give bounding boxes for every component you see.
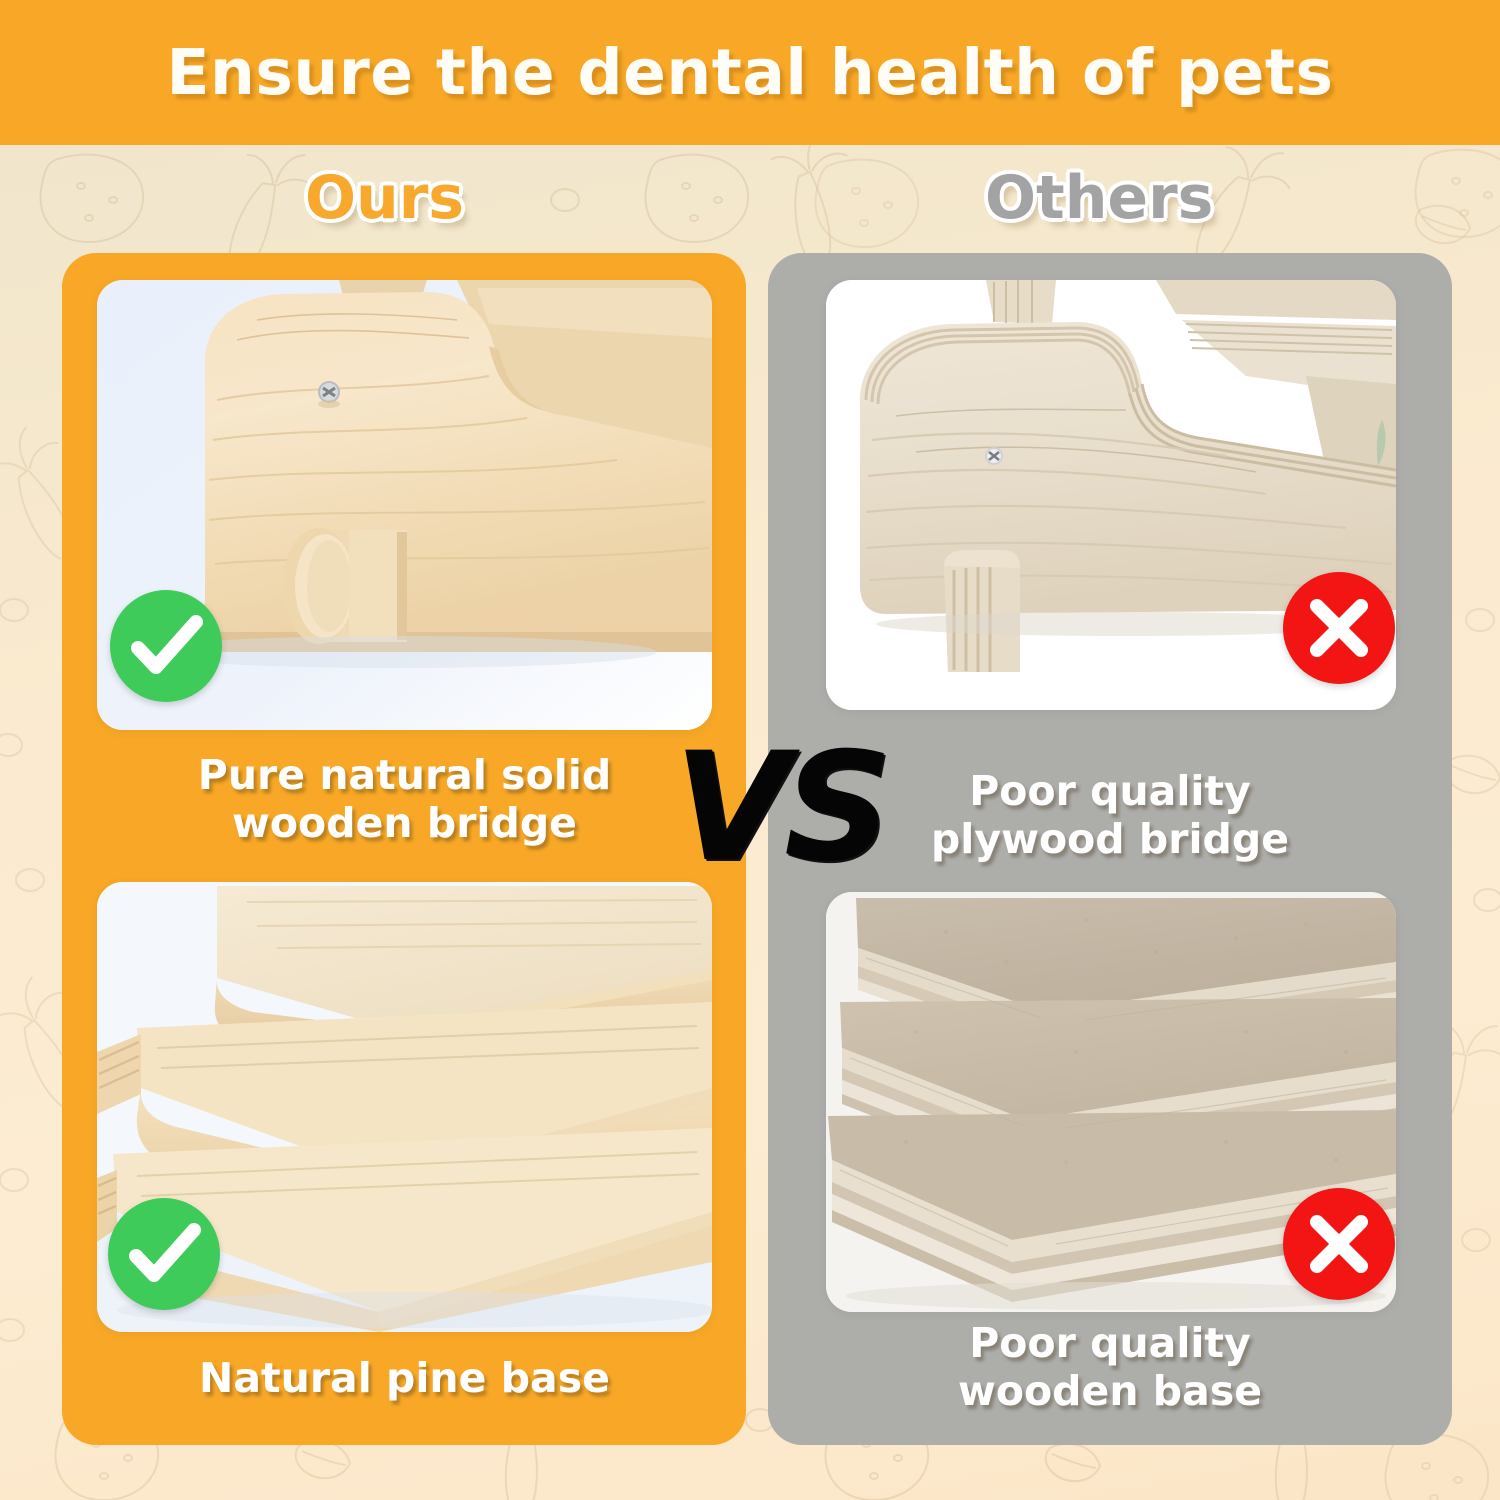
versus-badge: VS	[665, 718, 895, 898]
cross-badge-icon	[1283, 1188, 1395, 1300]
column-heading-others: Others	[985, 163, 1213, 233]
header-banner: Ensure the dental health of pets	[0, 0, 1500, 145]
page-title: Ensure the dental health of pets	[166, 36, 1333, 109]
caption-ours-base: Natural pine base	[97, 1355, 712, 1403]
check-badge-icon	[110, 590, 222, 702]
caption-others-base: Poor quality wooden base	[830, 1320, 1390, 1415]
caption-others-bridge: Poor quality plywood bridge	[830, 768, 1390, 863]
column-heading-ours: Ours	[305, 163, 464, 233]
cross-badge-icon	[1283, 572, 1395, 684]
check-badge-icon	[108, 1198, 220, 1310]
caption-ours-bridge: Pure natural solid wooden bridge	[97, 752, 712, 847]
infographic-root: Ensure the dental health of pets Ours Ot…	[0, 0, 1500, 1500]
